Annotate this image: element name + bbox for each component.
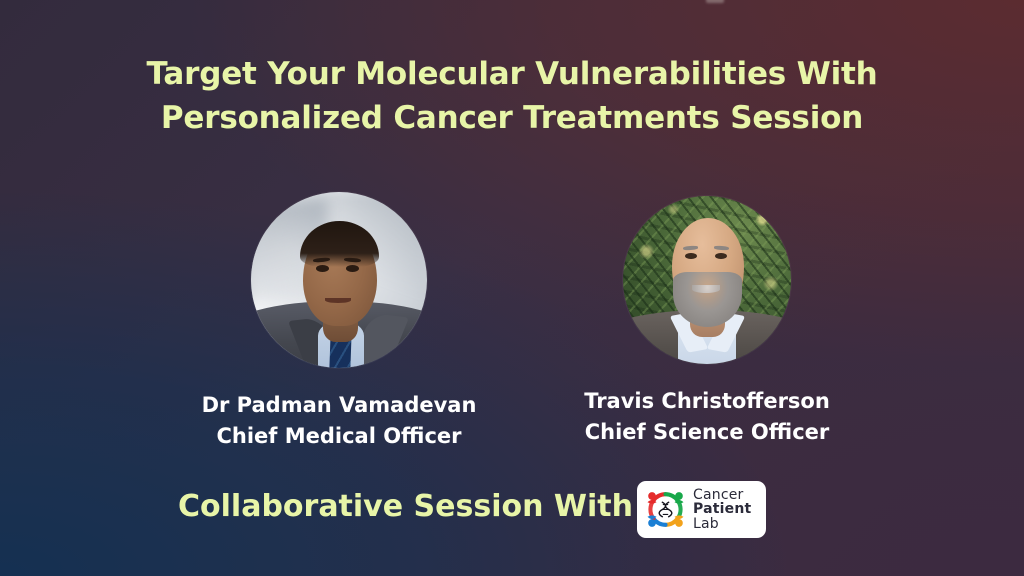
logo-line-patient: Patient (693, 502, 751, 516)
partner-logo-wordmark: Cancer Patient Lab (693, 488, 751, 531)
avatar-speaker-2 (623, 196, 791, 364)
page-title: Target Your Molecular Vulnerabilities Wi… (0, 52, 1024, 140)
speaker-1-name: Dr Padman Vamadevan (159, 390, 519, 421)
speaker-1-info: Dr Padman Vamadevan Chief Medical Office… (159, 390, 519, 452)
speaker-1-role: Chief Medical Officer (159, 421, 519, 452)
partner-logo-card[interactable]: Cancer Patient Lab (637, 481, 766, 538)
logo-line-cancer: Cancer (693, 488, 751, 502)
speaker-card-1: Dr Padman Vamadevan Chief Medical Office… (159, 192, 519, 452)
title-line-2: Personalized Cancer Treatments Session (0, 96, 1024, 140)
collaboration-text: Collaborative Session With (178, 486, 626, 528)
logo-line-lab: Lab (693, 517, 751, 531)
presentation-slide: Target Your Molecular Vulnerabilities Wi… (0, 0, 1024, 576)
title-line-1: Target Your Molecular Vulnerabilities Wi… (0, 52, 1024, 96)
speaker-2-name: Travis Christofferson (527, 386, 887, 417)
footer-collaboration: Collaborative Session With (0, 478, 1024, 544)
top-edge-artifact (706, 0, 724, 3)
speaker-card-2: Travis Christofferson Chief Science Offi… (527, 192, 887, 448)
avatar-speaker-1 (251, 192, 427, 368)
speaker-2-info: Travis Christofferson Chief Science Offi… (527, 386, 887, 448)
cancer-patient-lab-icon (643, 487, 688, 532)
speaker-2-role: Chief Science Officer (527, 417, 887, 448)
speakers-row: Dr Padman Vamadevan Chief Medical Office… (0, 192, 1024, 452)
